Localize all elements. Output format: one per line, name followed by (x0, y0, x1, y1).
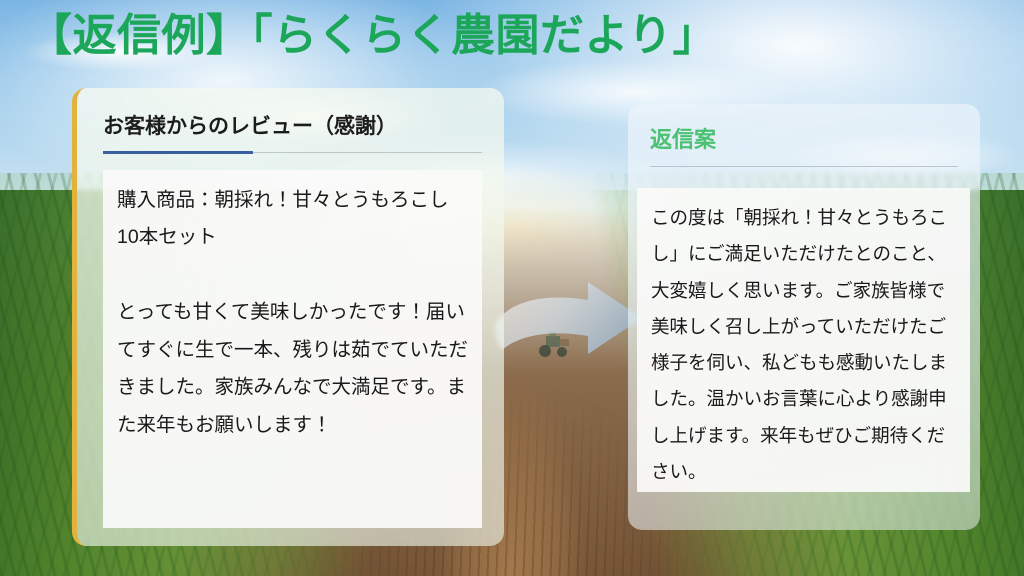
page-title: 【返信例】「らくらく農園だより」 (28, 8, 717, 63)
customer-review-card: お客様からのレビュー（感謝） 購入商品：朝採れ！甘々とうもろこし 10本セット … (72, 88, 504, 546)
reply-draft-text: この度は「朝採れ！甘々とうもろこし」にご満足いただけたとのこと、大変嬉しく思いま… (637, 188, 970, 492)
reply-draft-card-title: 返信案 (628, 104, 980, 154)
customer-review-text: 購入商品：朝採れ！甘々とうもろこし 10本セット とっても甘くて美味しかったです… (103, 170, 482, 528)
customer-review-card-divider (103, 152, 482, 153)
slide-canvas: 【返信例】「らくらく農園だより」 お客様からのレビュー（感謝） 購入商品：朝採れ… (0, 0, 1024, 576)
reply-draft-card: 返信案 この度は「朝採れ！甘々とうもろこし」にご満足いただけたとのこと、大変嬉し… (628, 104, 980, 530)
reply-draft-card-divider (650, 166, 958, 167)
customer-review-card-title: お客様からのレビュー（感謝） (77, 88, 504, 140)
